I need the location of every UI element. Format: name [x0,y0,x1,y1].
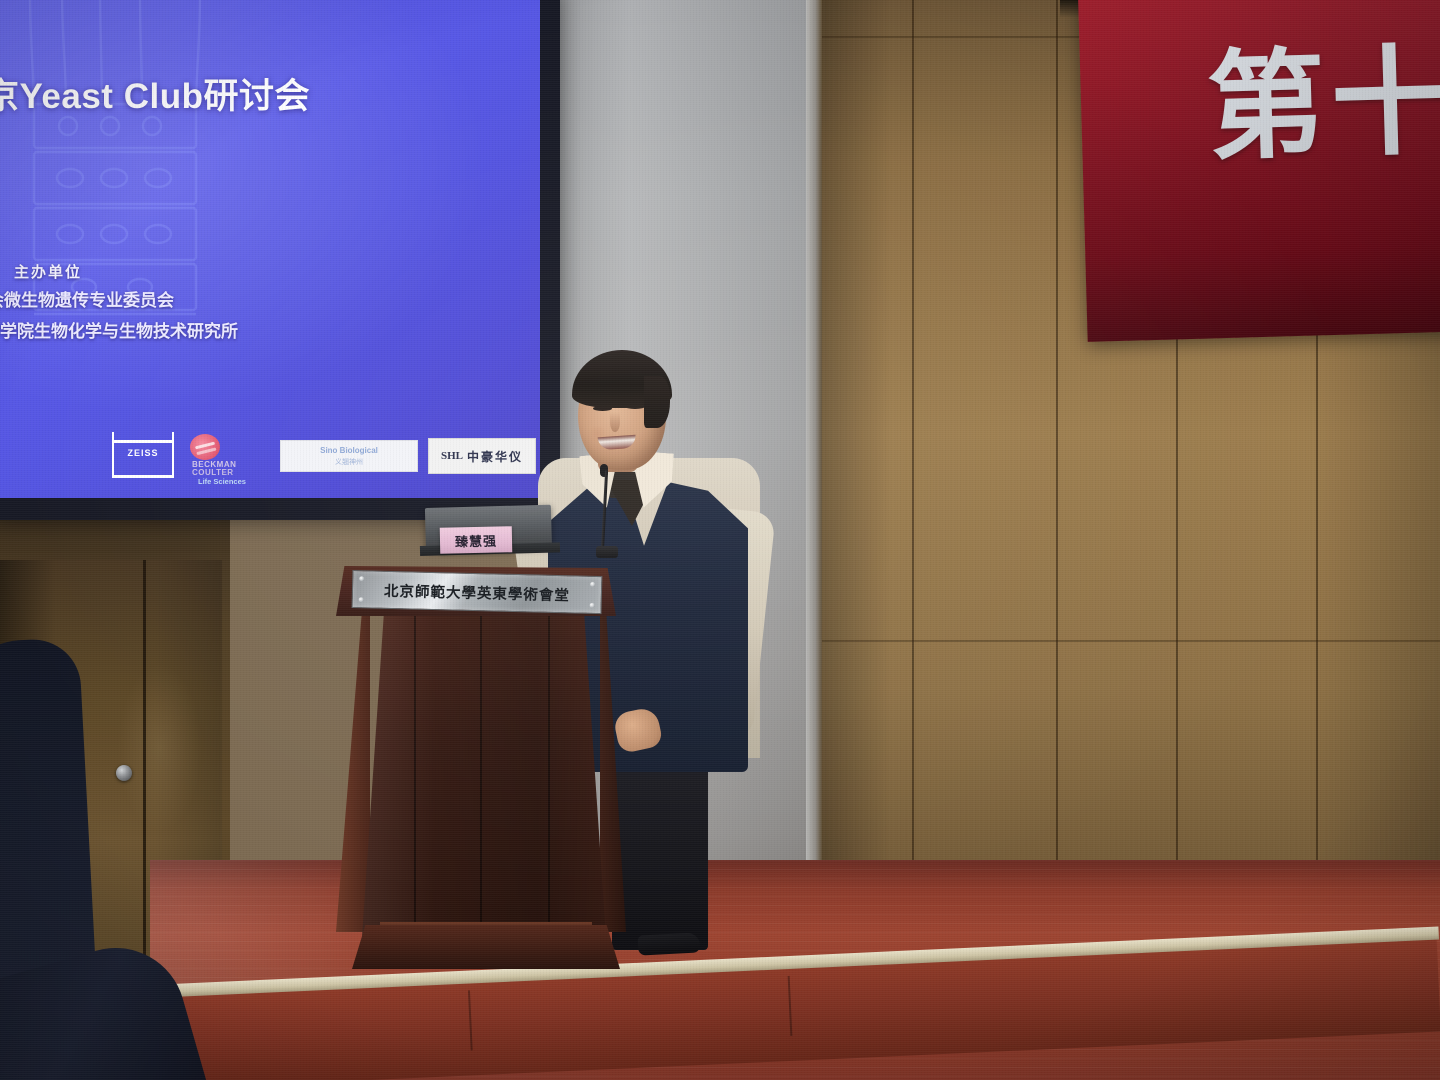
lectern-venue-plate-text: 北京師範大學英東學術會堂 [384,579,570,605]
slide-title: 京Yeast Club研讨会 [0,68,404,119]
red-banner: 第十 [1078,0,1440,342]
lectern-venue-plate: 北京師範大學英東學術會堂 [352,570,603,614]
beckman-line-2: COULTER [192,468,234,477]
zeiss-logo-text: ZEISS [114,448,172,458]
speaker-name-card-text: 臻慧强 [455,530,497,550]
zeiss-logo-icon: ZEISS [112,432,174,478]
white-box-line-1: Sino Biological [281,446,417,455]
shl-chinese: 中豪华仪 [467,448,523,465]
beckman-line-3: Life Sciences [198,477,246,486]
speaker-nose [610,412,620,432]
sino-biological-logo-icon: Sino Biological 义翘神州 [280,440,418,472]
slide-organizer-line-1: 学会微生物遗传专业委员会 [0,286,174,311]
beckman-coulter-logo-icon: BECKMAN COULTER Life Sciences [188,434,272,482]
lectern-base [352,925,620,969]
sponsor-logo-row: ZEISS BECKMAN COULTER Life Sciences Sino… [0,430,540,488]
wall-corner-edge [806,0,822,905]
lectern-left-side [336,612,370,932]
speaker-hair-side [644,376,670,428]
white-box-line-2: 义翘神州 [281,457,417,467]
conference-photo: 第十 [0,0,1440,1080]
shl-abbrev: SHL [441,450,463,462]
microphone-base [596,546,618,558]
presentation-slide: 京Yeast Club研讨会 主办单位 学会微生物遗传专业委员会 科学学院生物化… [0,0,540,498]
projection-screen-frame: 京Yeast Club研讨会 主办单位 学会微生物遗传专业委员会 科学学院生物化… [0,0,560,520]
door-knob-icon[interactable] [116,765,132,781]
slide-organizer-label: 主办单位 [14,261,82,282]
banner-text: 第十 [1206,42,1440,167]
speaker-shoe [638,932,701,955]
lectern-body [362,612,606,937]
speaker-name-card: 臻慧强 [440,526,513,554]
slide-organizer-line-2: 科学学院生物化学与生物技术研究所 [0,317,238,342]
